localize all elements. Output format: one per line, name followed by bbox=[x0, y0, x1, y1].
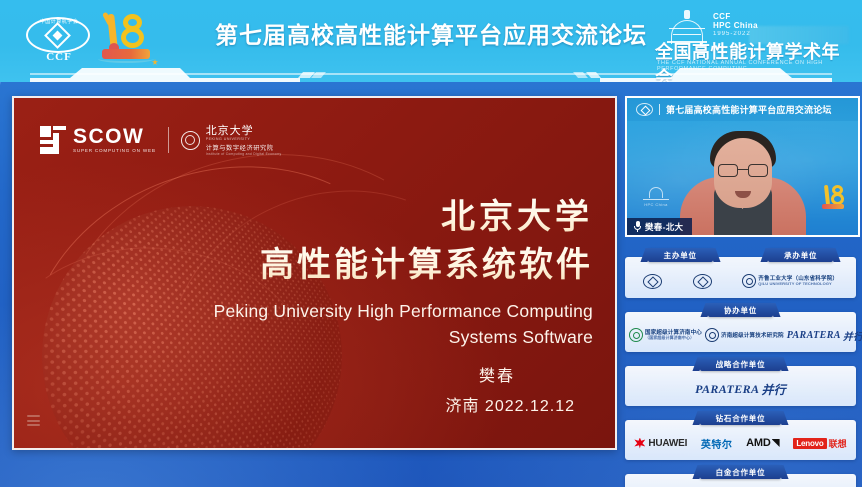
sponsor-subname: （国家超级计算济南中心） bbox=[645, 336, 702, 341]
sponsor-caption: 主办单位 bbox=[648, 248, 713, 262]
ccf-abbr: CCF bbox=[22, 51, 96, 63]
header-banner: 中国计算机学会 CCF 第七届高校高性能计算平台应用交流论坛 bbox=[0, 0, 862, 82]
sponsor-name-cn: 并行 bbox=[761, 381, 785, 398]
scow-mark-icon bbox=[40, 126, 66, 154]
pku-chinese-name: 北京大学 bbox=[206, 125, 282, 137]
sponsor-name: Lenovo bbox=[793, 438, 826, 449]
hpc-line2: HPC China bbox=[713, 21, 758, 30]
sponsor-block: 协办单位 国家超级计算济南中心 （国家超级计算济南中心） 济南超级计算技术研究院… bbox=[625, 303, 856, 352]
sponsor-logo-intel: 英特尔 bbox=[701, 436, 733, 451]
sponsor-logo-ccf bbox=[693, 274, 712, 289]
video-mascot-watermark bbox=[820, 183, 846, 213]
sponsor-logo-paratera: PARATERA 并行 bbox=[695, 381, 786, 398]
sponsor-block: 主办单位 承办单位 齐鲁工业大学（山东省科学院） QILU UNIVERSITY… bbox=[625, 248, 856, 298]
sponsor-logo-jinan-nsc: 国家超级计算济南中心 （国家超级计算济南中心） bbox=[629, 328, 702, 342]
pku-institute: 计算与数字经济研究院 bbox=[206, 143, 282, 152]
pku-logo: 北京大学 PEKING UNIVERSITY 计算与数字经济研究院 Instit… bbox=[181, 125, 282, 156]
sponsor-caption: 承办单位 bbox=[768, 248, 833, 262]
sponsor-caption: 协办单位 bbox=[708, 303, 773, 317]
presentation-slide[interactable]: SCOW SUPER COMPUTING ON WEB 北京大学 PEKING … bbox=[12, 96, 617, 450]
speaker-glasses-icon bbox=[718, 164, 768, 177]
sponsor-name: AMD bbox=[746, 437, 770, 449]
sponsor-name-cn: 并行 bbox=[843, 328, 862, 343]
sponsor-name-cn: 联想 bbox=[829, 437, 847, 450]
speaker-video-panel[interactable]: HPC China 第七届高校高性能计算平台应用交流论坛 樊春-北大 bbox=[625, 96, 860, 237]
pku-english-name: PEKING UNIVERSITY bbox=[206, 137, 282, 141]
sponsor-name: PARATERA bbox=[695, 382, 759, 397]
banner-divider bbox=[659, 104, 660, 115]
video-hpc-watermark: HPC China bbox=[637, 187, 675, 209]
sponsor-subname: QILU UNIVERSITY OF TECHNOLOGY bbox=[758, 282, 838, 287]
slide-title-cn-2: 高性能计算系统软件 bbox=[153, 240, 593, 290]
slide-speaker-name: 樊春 bbox=[153, 362, 515, 386]
logo-divider bbox=[168, 127, 169, 153]
microphone-icon bbox=[634, 221, 641, 232]
slide-title-cn-1: 北京大学 bbox=[153, 194, 593, 240]
slide-place-date: 济南 2022.12.12 bbox=[153, 392, 575, 416]
sponsor-logo-qilu: 齐鲁工业大学（山东省科学院） QILU UNIVERSITY OF TECHNO… bbox=[742, 274, 838, 288]
sponsor-logo-row: 国家超级计算济南中心 （国家超级计算济南中心） 济南超级计算技术研究院 PARA… bbox=[625, 312, 856, 352]
scow-name: SCOW bbox=[73, 127, 156, 147]
video-top-banner: 第七届高校高性能计算平台应用交流论坛 bbox=[627, 98, 858, 121]
hpc-abbr-block: CCF HPC China 1995-2022 bbox=[713, 12, 758, 39]
hpc-china-logo: CCF HPC China 1995-2022 全国高性能计算学术年会 THE … bbox=[653, 8, 848, 70]
slide-title-en-1: Peking University High Performance Compu… bbox=[153, 298, 593, 324]
sponsor-logo-huawei: HUAWEI bbox=[634, 438, 687, 449]
sponsor-logo-ccf bbox=[643, 274, 662, 289]
sponsor-caption: 战略合作单位 bbox=[700, 357, 782, 371]
sponsor-name: PARATERA bbox=[787, 330, 841, 341]
slide-text-block: 北京大学 高性能计算系统软件 Peking University High Pe… bbox=[153, 194, 593, 416]
scow-logo: SCOW SUPER COMPUTING ON WEB bbox=[40, 126, 156, 154]
video-watermark-text: HPC China bbox=[639, 202, 673, 207]
sponsor-logo-jinan-institute: 济南超级计算技术研究院 bbox=[705, 328, 784, 342]
speaker-nametag: 樊春-北大 bbox=[627, 218, 692, 235]
slide-title-en-2: Systems Software bbox=[153, 324, 593, 350]
sponsor-block: 战略合作单位 PARATERA 并行 bbox=[625, 357, 856, 406]
sponsor-logo-amd: AMD bbox=[746, 437, 779, 449]
hamburger-menu-icon[interactable] bbox=[27, 415, 40, 426]
sponsor-logo-lenovo: Lenovo 联想 bbox=[793, 437, 846, 450]
pku-seal-icon bbox=[181, 131, 200, 150]
sponsor-name: HUAWEI bbox=[648, 438, 687, 449]
sponsor-block: 白金合作单位 (-) 阿里云 DELLTechnologies 戴尔科技集团 北… bbox=[625, 465, 856, 487]
screen: 中国计算机学会 CCF 第七届高校高性能计算平台应用交流论坛 bbox=[0, 0, 862, 487]
scow-subtitle: SUPER COMPUTING ON WEB bbox=[73, 148, 156, 153]
sponsor-panel: 主办单位 承办单位 齐鲁工业大学（山东省科学院） QILU UNIVERSITY… bbox=[625, 248, 856, 446]
speaker-nametag-text: 樊春-北大 bbox=[645, 221, 683, 233]
sponsor-logo-paratera: PARATERA 并行 bbox=[787, 328, 862, 343]
amd-arrow-icon bbox=[772, 439, 780, 447]
video-banner-title: 第七届高校高性能计算平台应用交流论坛 bbox=[666, 103, 832, 116]
hpc-abbr: CCF bbox=[713, 12, 758, 21]
slide-logo-row: SCOW SUPER COMPUTING ON WEB 北京大学 PEKING … bbox=[40, 122, 282, 158]
sponsor-block: 钻石合作单位 HUAWEI 英特尔 AMD Lenovo 联想 bbox=[625, 411, 856, 460]
sponsor-caption: 白金合作单位 bbox=[700, 465, 782, 479]
sponsor-caption: 钻石合作单位 bbox=[700, 411, 782, 425]
huawei-flower-icon bbox=[634, 438, 645, 449]
sponsor-logo-row: HUAWEI 英特尔 AMD Lenovo 联想 bbox=[625, 420, 856, 460]
pku-institute-en: Institute of Computing and Digital Econo… bbox=[206, 152, 282, 156]
sponsor-logo-row: 齐鲁工业大学（山东省科学院） QILU UNIVERSITY OF TECHNO… bbox=[625, 257, 856, 298]
ccf-logo-icon bbox=[636, 103, 653, 116]
sponsor-logo-row: PARATERA 并行 bbox=[625, 366, 856, 406]
hpc-english-name: THE CCF NATIONAL ANNUAL CONFERENCE ON HI… bbox=[657, 60, 848, 72]
sponsor-name: 济南超级计算技术研究院 bbox=[721, 331, 784, 339]
